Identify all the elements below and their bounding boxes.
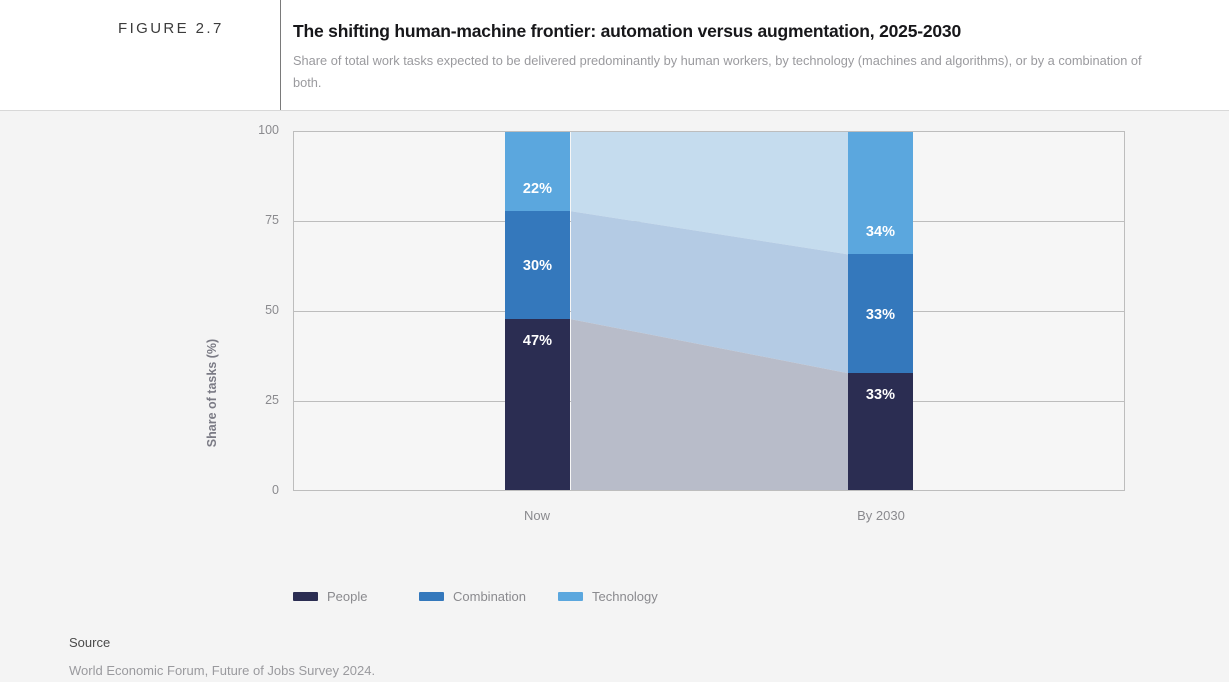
y-tick-0: 0	[272, 483, 279, 497]
source-label: Source	[69, 635, 110, 650]
bar-now-segment-technology[interactable]: 22%	[505, 132, 570, 211]
legend-swatch-people-icon	[293, 592, 318, 601]
y-axis-title: Share of tasks (%)	[205, 313, 219, 473]
bar-now-label-people: 47%	[505, 333, 570, 349]
legend-swatch-technology-icon	[558, 592, 583, 601]
y-axis-title-holder: Share of tasks (%)	[196, 231, 216, 391]
plot-area: 22% 30% 47% 34% 33% 33%	[293, 131, 1125, 491]
bar-2030[interactable]: 34% 33% 33%	[848, 132, 913, 490]
bar-2030-segment-combination[interactable]: 33%	[848, 254, 913, 373]
legend-label-people: People	[327, 589, 367, 604]
x-label-now: Now	[472, 508, 602, 523]
bar-2030-segment-technology[interactable]: 34%	[848, 132, 913, 254]
bar-2030-label-combination: 33%	[848, 307, 913, 323]
bar-2030-segment-people[interactable]: 33%	[848, 373, 913, 490]
legend-swatch-combination-icon	[419, 592, 444, 601]
alluvial-ribbons	[294, 132, 1124, 490]
bar-now-label-technology: 22%	[505, 181, 570, 197]
legend-label-combination: Combination	[453, 589, 526, 604]
legend-item-combination[interactable]: Combination	[419, 588, 526, 604]
legend-item-technology[interactable]: Technology	[558, 588, 658, 604]
figure-number: FIGURE 2.7	[118, 20, 224, 37]
y-tick-100: 100	[258, 123, 279, 137]
legend-item-people[interactable]: People	[293, 588, 367, 604]
figure-title: The shifting human-machine frontier: aut…	[293, 20, 1133, 42]
x-label-2030: By 2030	[816, 508, 946, 523]
y-axis-ticks: 100 75 50 25 0	[233, 131, 279, 491]
source-text: World Economic Forum, Future of Jobs Sur…	[69, 663, 375, 678]
header-divider-vertical	[280, 0, 281, 110]
figure-subtitle: Share of total work tasks expected to be…	[293, 50, 1149, 94]
figure-page: FIGURE 2.7 The shifting human-machine fr…	[0, 0, 1229, 682]
y-tick-75: 75	[265, 213, 279, 227]
y-tick-50: 50	[265, 303, 279, 317]
bar-now-segment-people[interactable]: 47%	[505, 319, 570, 490]
bar-2030-label-people: 33%	[848, 387, 913, 403]
bar-now-segment-combination[interactable]: 30%	[505, 211, 570, 319]
bar-2030-label-technology: 34%	[848, 224, 913, 240]
y-tick-25: 25	[265, 393, 279, 407]
bar-now-label-combination: 30%	[505, 258, 570, 274]
bar-now[interactable]: 22% 30% 47%	[505, 132, 570, 490]
legend-label-technology: Technology	[592, 589, 658, 604]
